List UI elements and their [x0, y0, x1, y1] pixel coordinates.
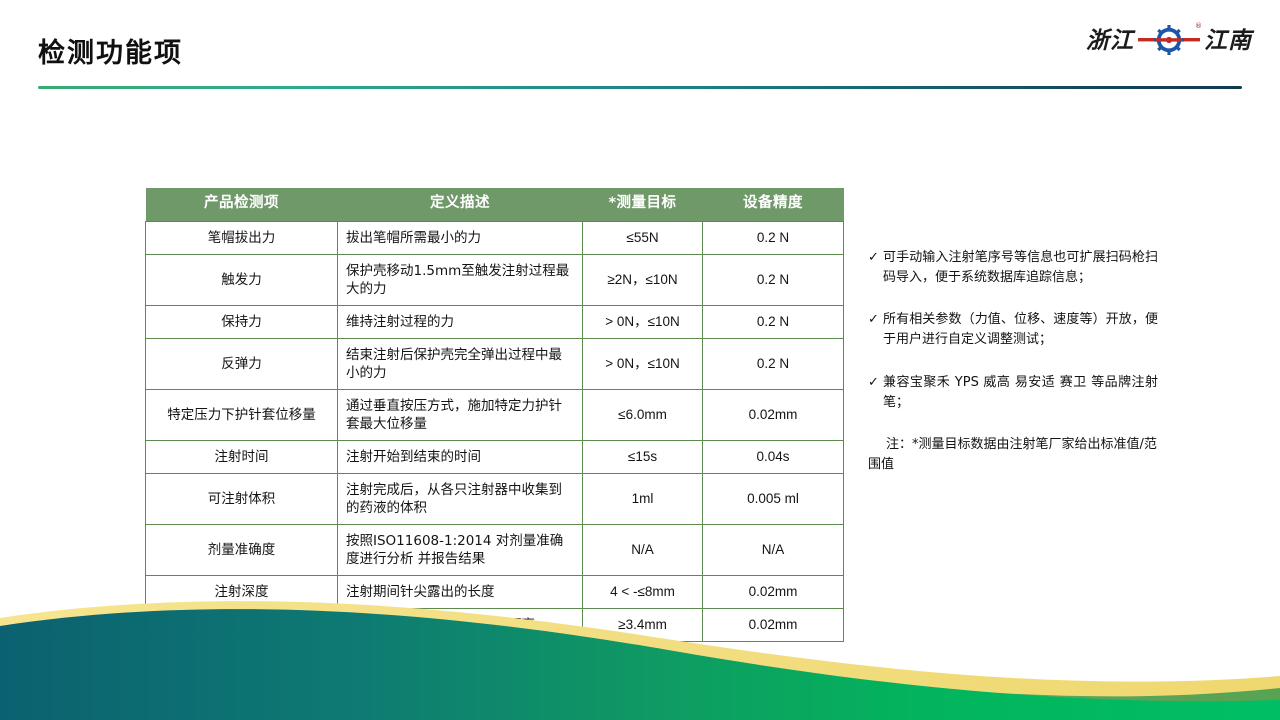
detection-spec-table: 产品检测项 定义描述 *测量目标 设备精度 笔帽拔出力拔出笔帽所需最小的力≤55… — [145, 188, 844, 642]
cell-definition: 注射完成后，从各只注射器中收集到的药液的体积 — [338, 473, 583, 524]
column-header-target: *测量目标 — [583, 188, 703, 221]
column-header-precision: 设备精度 — [703, 188, 844, 221]
cell-product-item: 笔帽拔出力 — [146, 221, 338, 254]
cell-precision: 0.02mm — [703, 608, 844, 641]
cell-definition: 拔出笔帽所需最小的力 — [338, 221, 583, 254]
notes-footnote: 注：*测量目标数据由注射笔厂家给出标准值/范围值 — [868, 435, 1158, 475]
cell-definition: 注射开始到结束的时间 — [338, 440, 583, 473]
cell-definition: 通过垂直按压方式，施加特定力护针套最大位移量 — [338, 389, 583, 440]
cell-product-item: 剂量准确度 — [146, 524, 338, 575]
note-text: 所有相关参数（力值、位移、速度等）开放，便于用户进行自定义调整测试； — [883, 310, 1158, 350]
page-title: 检测功能项 — [38, 40, 183, 67]
cell-product-item: 触发力 — [146, 254, 338, 305]
table-row: 注射深度注射期间针尖露出的长度4 < -≤8mm0.02mm — [146, 575, 844, 608]
registered-trademark-icon: ® — [1195, 22, 1202, 30]
cell-target: ≥2N，≤10N — [583, 254, 703, 305]
logo-text-right: 江南 — [1204, 29, 1252, 52]
cell-precision: 0.005 ml — [703, 473, 844, 524]
cell-product-item: 注射深度 — [146, 575, 338, 608]
slide-root: 检测功能项 浙江 — [0, 0, 1280, 720]
cell-definition: 按照ISO11608-1:2014 对剂量准确度进行分析 并报告结果 — [338, 524, 583, 575]
cell-target: > 0N，≤10N — [583, 305, 703, 338]
table-row: 反弹力结束注射后保护壳完全弹出过程中最小的力> 0N，≤10N0.2 N — [146, 338, 844, 389]
gear-emblem-icon: ® — [1138, 23, 1200, 57]
cell-precision: 0.2 N — [703, 338, 844, 389]
table-row: 笔帽拔出力拔出笔帽所需最小的力≤55N0.2 N — [146, 221, 844, 254]
cell-definition: 维持注射过程的力 — [338, 305, 583, 338]
table-body: 笔帽拔出力拔出笔帽所需最小的力≤55N0.2 N触发力保护壳移动1.5mm至触发… — [146, 221, 844, 641]
cell-target: 1ml — [583, 473, 703, 524]
table-row: 触发力保护壳移动1.5mm至触发注射过程最大的力≥2N，≤10N0.2 N — [146, 254, 844, 305]
note-item: ✓所有相关参数（力值、位移、速度等）开放，便于用户进行自定义调整测试； — [868, 310, 1158, 350]
cell-precision: 0.2 N — [703, 221, 844, 254]
cell-precision: N/A — [703, 524, 844, 575]
note-text: 兼容宝聚禾 YPS 威高 易安适 赛卫 等品牌注射笔； — [883, 373, 1158, 413]
cell-product-item: 针头安全距离 — [146, 608, 338, 641]
title-divider — [38, 86, 1242, 89]
cell-definition: 保护壳移动1.5mm至触发注射过程最大的力 — [338, 254, 583, 305]
cell-definition: 结束注射后保护壳完全弹出过程中最小的力 — [338, 338, 583, 389]
cell-product-item: 特定压力下护针套位移量 — [146, 389, 338, 440]
cell-target: N/A — [583, 524, 703, 575]
cell-precision: 0.2 N — [703, 254, 844, 305]
cell-definition: 注射后针尖到保护壳端面的距离 — [338, 608, 583, 641]
cell-target: 4 < -≤8mm — [583, 575, 703, 608]
checkmark-icon: ✓ — [868, 248, 883, 268]
cell-product-item: 可注射体积 — [146, 473, 338, 524]
note-text: 可手动输入注射笔序号等信息也可扩展扫码枪扫码导入，便于系统数据库追踪信息； — [883, 248, 1158, 288]
table-row: 剂量准确度按照ISO11608-1:2014 对剂量准确度进行分析 并报告结果N… — [146, 524, 844, 575]
notes-list: ✓可手动输入注射笔序号等信息也可扩展扫码枪扫码导入，便于系统数据库追踪信息；✓所… — [868, 248, 1158, 413]
cell-precision: 0.04s — [703, 440, 844, 473]
note-item: ✓可手动输入注射笔序号等信息也可扩展扫码枪扫码导入，便于系统数据库追踪信息； — [868, 248, 1158, 288]
cell-product-item: 保持力 — [146, 305, 338, 338]
table-row: 注射时间注射开始到结束的时间≤15s0.04s — [146, 440, 844, 473]
cell-target: > 0N，≤10N — [583, 338, 703, 389]
table-header-row: 产品检测项 定义描述 *测量目标 设备精度 — [146, 188, 844, 221]
table-row: 可注射体积注射完成后，从各只注射器中收集到的药液的体积1ml0.005 ml — [146, 473, 844, 524]
table-row: 保持力维持注射过程的力> 0N，≤10N0.2 N — [146, 305, 844, 338]
cell-target: ≤15s — [583, 440, 703, 473]
column-header-definition: 定义描述 — [338, 188, 583, 221]
cell-product-item: 反弹力 — [146, 338, 338, 389]
cell-precision: 0.2 N — [703, 305, 844, 338]
cell-target: ≤6.0mm — [583, 389, 703, 440]
table-row: 针头安全距离注射后针尖到保护壳端面的距离≥3.4mm0.02mm — [146, 608, 844, 641]
cell-definition: 注射期间针尖露出的长度 — [338, 575, 583, 608]
cell-target: ≤55N — [583, 221, 703, 254]
note-item: ✓兼容宝聚禾 YPS 威高 易安适 赛卫 等品牌注射笔； — [868, 373, 1158, 413]
feature-notes: ✓可手动输入注射笔序号等信息也可扩展扫码枪扫码导入，便于系统数据库追踪信息；✓所… — [868, 248, 1158, 475]
cell-precision: 0.02mm — [703, 389, 844, 440]
logo-text-left: 浙江 — [1086, 29, 1134, 52]
cell-product-item: 注射时间 — [146, 440, 338, 473]
cell-precision: 0.02mm — [703, 575, 844, 608]
cell-target: ≥3.4mm — [583, 608, 703, 641]
table-row: 特定压力下护针套位移量通过垂直按压方式，施加特定力护针套最大位移量≤6.0mm0… — [146, 389, 844, 440]
column-header-name: 产品检测项 — [146, 188, 338, 221]
checkmark-icon: ✓ — [868, 310, 883, 330]
company-logo: 浙江 — [1086, 20, 1252, 60]
checkmark-icon: ✓ — [868, 373, 883, 393]
